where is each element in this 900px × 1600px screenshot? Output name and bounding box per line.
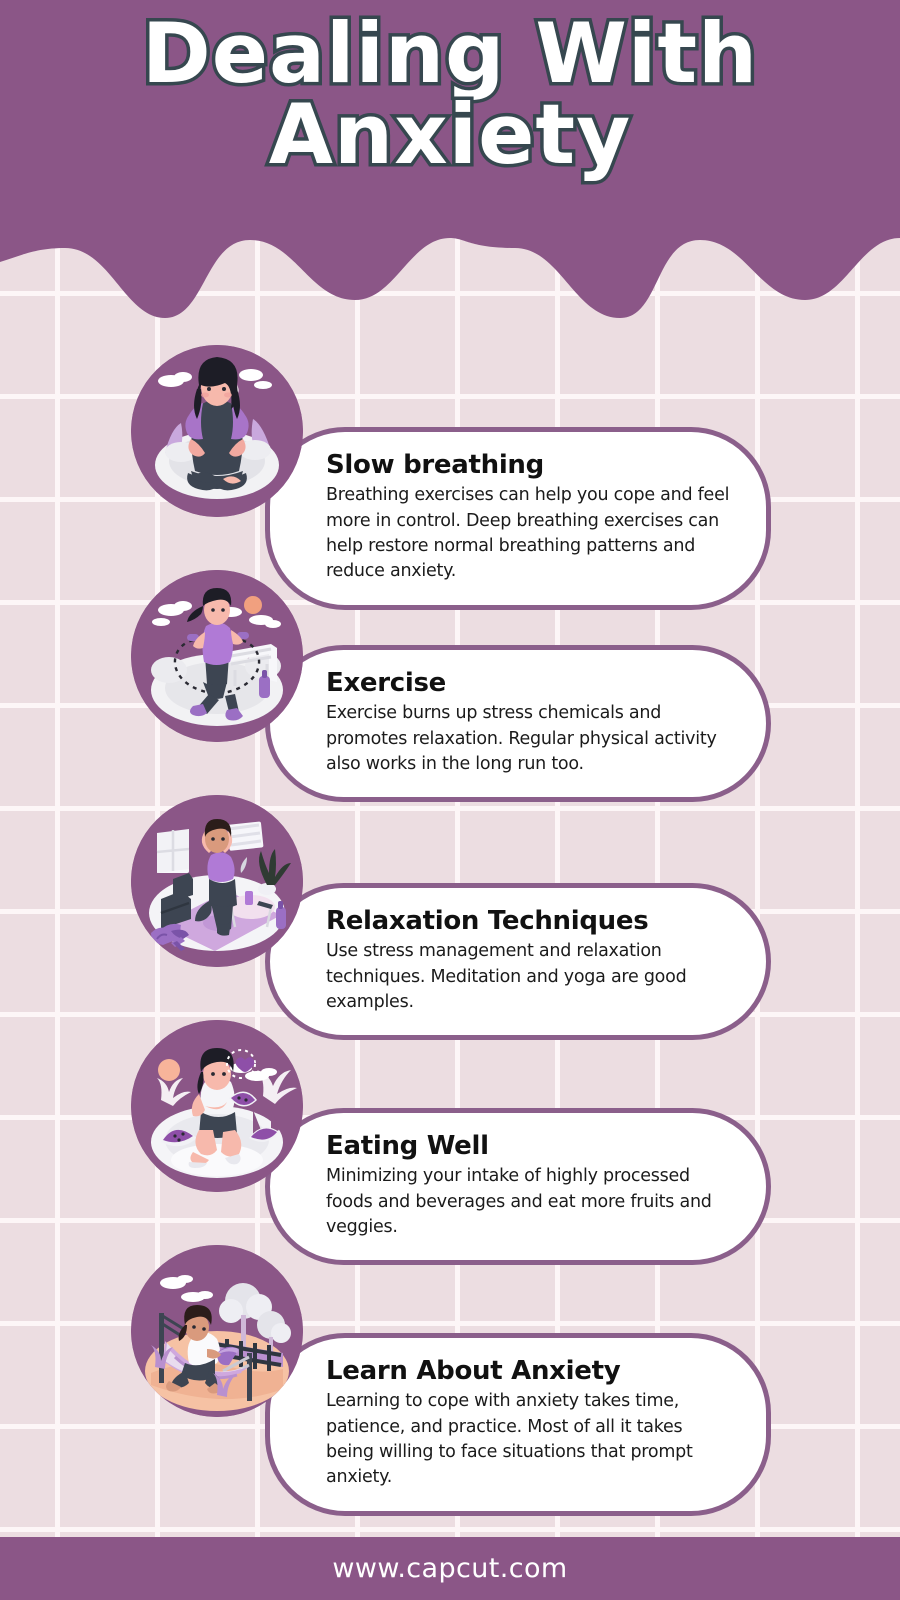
tip-card-5[interactable]: Learn About Anxiety Learning to cope wit… xyxy=(265,1333,771,1516)
tip-card-4[interactable]: Eating Well Minimizing your intake of hi… xyxy=(265,1108,771,1265)
tip-card-2-title: Exercise xyxy=(326,668,732,699)
infographic-poster: Dealing With Anxiety xyxy=(0,0,900,1600)
meditation-illustration-svg xyxy=(131,345,303,517)
eating-watermelon-illustration-svg xyxy=(131,1020,303,1192)
yoga-pose-illustration-icon xyxy=(131,795,303,967)
page-title-line-2: Anxiety xyxy=(0,95,900,176)
reading-hammock-illustration-icon xyxy=(131,1245,303,1417)
meditation-illustration-icon xyxy=(131,345,303,517)
tip-card-1-body: Breathing exercises can help you cope an… xyxy=(326,483,732,585)
page-title: Dealing With Anxiety xyxy=(0,14,900,175)
tip-card-1-title: Slow breathing xyxy=(326,450,732,481)
yoga-pose-illustration-svg xyxy=(131,795,303,967)
eating-watermelon-illustration-icon xyxy=(131,1020,303,1192)
tip-card-1[interactable]: Slow breathing Breathing exercises can h… xyxy=(265,427,771,610)
tip-card-5-body: Learning to cope with anxiety takes time… xyxy=(326,1389,732,1491)
tip-card-4-body: Minimizing your intake of highly process… xyxy=(326,1164,732,1240)
tip-card-2-body: Exercise burns up stress chemicals and p… xyxy=(326,701,732,777)
tip-card-3[interactable]: Relaxation Techniques Use stress managem… xyxy=(265,883,771,1040)
page-title-line-1: Dealing With xyxy=(0,14,900,95)
jump-rope-illustration-svg xyxy=(131,570,303,742)
tip-card-5-title: Learn About Anxiety xyxy=(326,1356,732,1387)
tip-card-3-title: Relaxation Techniques xyxy=(326,906,732,937)
footer-url[interactable]: www.capcut.com xyxy=(332,1553,567,1584)
header-banner: Dealing With Anxiety xyxy=(0,0,900,320)
reading-hammock-illustration-svg xyxy=(131,1245,303,1417)
tip-card-3-body: Use stress management and relaxation tec… xyxy=(326,939,732,1015)
jump-rope-illustration-icon xyxy=(131,570,303,742)
tip-card-4-title: Eating Well xyxy=(326,1131,732,1162)
tip-card-2[interactable]: Exercise Exercise burns up stress chemic… xyxy=(265,645,771,802)
footer-bar: www.capcut.com xyxy=(0,1537,900,1600)
